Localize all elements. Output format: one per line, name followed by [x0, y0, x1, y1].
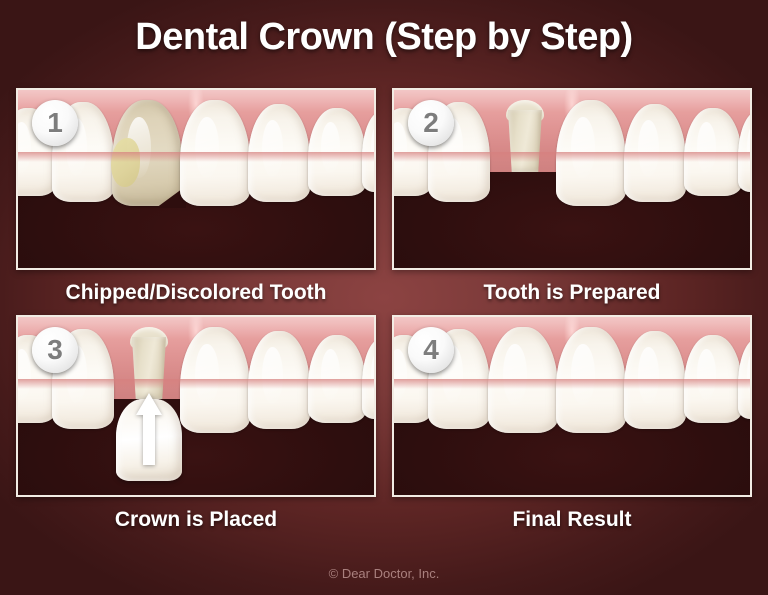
step-number-3: 3	[47, 336, 63, 364]
steps-grid: 1 Chipped/Discolored Tooth	[0, 88, 768, 532]
steps-row-top: 1 Chipped/Discolored Tooth	[0, 88, 768, 305]
tooth-chipped-discolored	[112, 100, 182, 206]
copyright-credit: © Dear Doctor, Inc.	[0, 566, 768, 581]
illustration-crown-placement: 3	[18, 317, 374, 495]
step-number-1: 1	[47, 109, 63, 137]
tooth-right-central	[180, 100, 250, 206]
tooth-far-right	[308, 335, 366, 423]
prepared-tooth-stump	[132, 337, 166, 399]
tooth-crowned-restored	[488, 327, 558, 433]
tooth-far-right	[308, 108, 366, 196]
step-image-panel-2: 2	[392, 88, 752, 270]
step-badge-1: 1	[32, 100, 78, 146]
tooth-right-lateral	[248, 331, 310, 429]
step-badge-2: 2	[408, 100, 454, 146]
illustration-prepared-tooth: 2	[394, 90, 750, 268]
steps-row-bottom: 3 Crown is Placed	[0, 315, 768, 532]
step-image-panel-4: 4	[392, 315, 752, 497]
step-caption-2: Tooth is Prepared	[392, 270, 752, 305]
dental-crown-infographic: Dental Crown (Step by Step)	[0, 0, 768, 595]
step-card-4: 4 Final Result	[392, 315, 752, 532]
step-number-4: 4	[423, 336, 439, 364]
step-caption-1: Chipped/Discolored Tooth	[16, 270, 376, 305]
tooth-right-lateral	[624, 104, 686, 202]
step-image-panel-3: 3	[16, 315, 376, 497]
step-card-1: 1 Chipped/Discolored Tooth	[16, 88, 376, 305]
title-bar: Dental Crown (Step by Step)	[0, 16, 768, 59]
illustration-final-result: 4	[394, 317, 750, 495]
step-card-3: 3 Crown is Placed	[16, 315, 376, 532]
insertion-arrow-icon	[136, 393, 162, 465]
tooth-right-central	[180, 327, 250, 433]
step-caption-4: Final Result	[392, 497, 752, 532]
tooth-far-right	[684, 108, 742, 196]
step-number-2: 2	[423, 109, 439, 137]
prepared-tooth-stump	[508, 110, 542, 172]
step-badge-4: 4	[408, 327, 454, 373]
step-caption-3: Crown is Placed	[16, 497, 376, 532]
tooth-right-central	[556, 327, 626, 433]
tooth-right-central	[556, 100, 626, 206]
tooth-far-right	[684, 335, 742, 423]
step-card-2: 2 Tooth is Prepared	[392, 88, 752, 305]
illustration-chipped-discolored-tooth: 1	[18, 90, 374, 268]
tooth-right-lateral	[248, 104, 310, 202]
step-badge-3: 3	[32, 327, 78, 373]
tooth-right-lateral	[624, 331, 686, 429]
page-title: Dental Crown (Step by Step)	[135, 16, 632, 59]
step-image-panel-1: 1	[16, 88, 376, 270]
